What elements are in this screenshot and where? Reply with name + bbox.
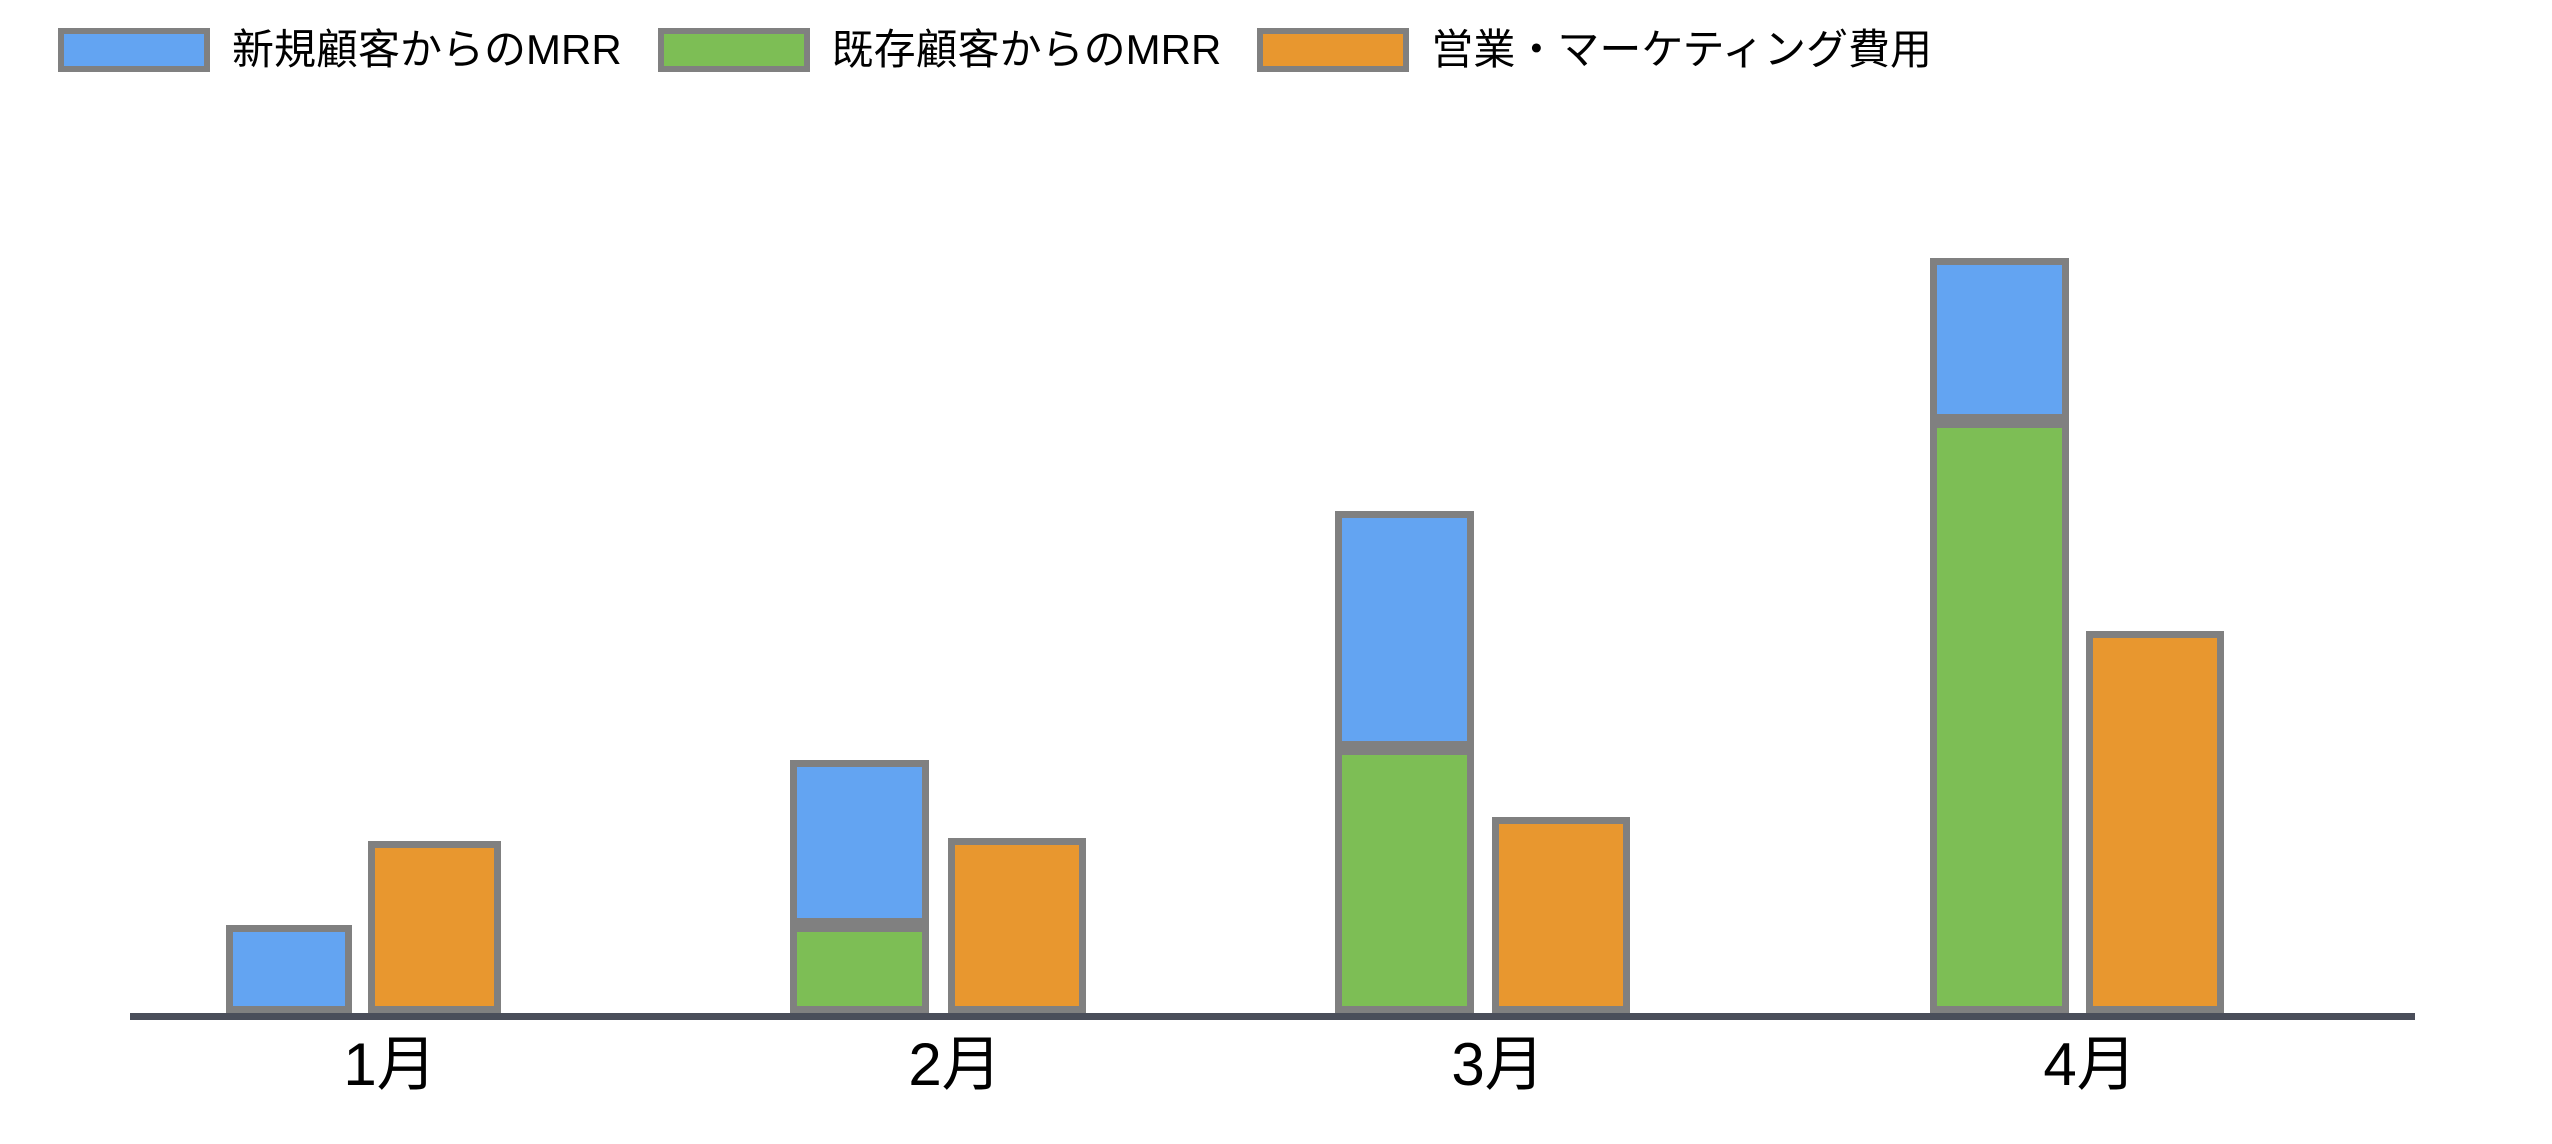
bar-segment-existing-mrr-2月[interactable] xyxy=(790,925,929,1013)
bar-mrr-3月[interactable] xyxy=(1335,511,1474,1013)
bar-cost-1月[interactable] xyxy=(368,841,501,1013)
bar-mrr-4月[interactable] xyxy=(1930,258,2069,1013)
bar-segment-existing-mrr-3月[interactable] xyxy=(1335,748,1474,1013)
bar-mrr-2月[interactable] xyxy=(790,760,929,1013)
x-axis-label-4月: 4月 xyxy=(1940,1035,2240,1095)
bar-cost-2月[interactable] xyxy=(948,838,1086,1013)
chart-plot-area: 1月 2月 3月 4月 xyxy=(0,0,2552,1144)
bar-segment-new-mrr-1月[interactable] xyxy=(226,925,352,1013)
bar-segment-new-mrr-3月[interactable] xyxy=(1335,511,1474,748)
bar-cost-4月[interactable] xyxy=(2086,631,2224,1013)
bar-segment-existing-mrr-4月[interactable] xyxy=(1930,421,2069,1013)
bar-cost-3月[interactable] xyxy=(1492,817,1630,1013)
x-axis-label-3月: 3月 xyxy=(1348,1035,1648,1095)
x-axis-line xyxy=(130,1013,2415,1020)
bar-mrr-1月[interactable] xyxy=(226,925,352,1013)
x-axis-label-1月: 1月 xyxy=(240,1035,540,1095)
x-axis-label-2月: 2月 xyxy=(805,1035,1105,1095)
bar-segment-new-mrr-4月[interactable] xyxy=(1930,258,2069,421)
bar-segment-new-mrr-2月[interactable] xyxy=(790,760,929,925)
